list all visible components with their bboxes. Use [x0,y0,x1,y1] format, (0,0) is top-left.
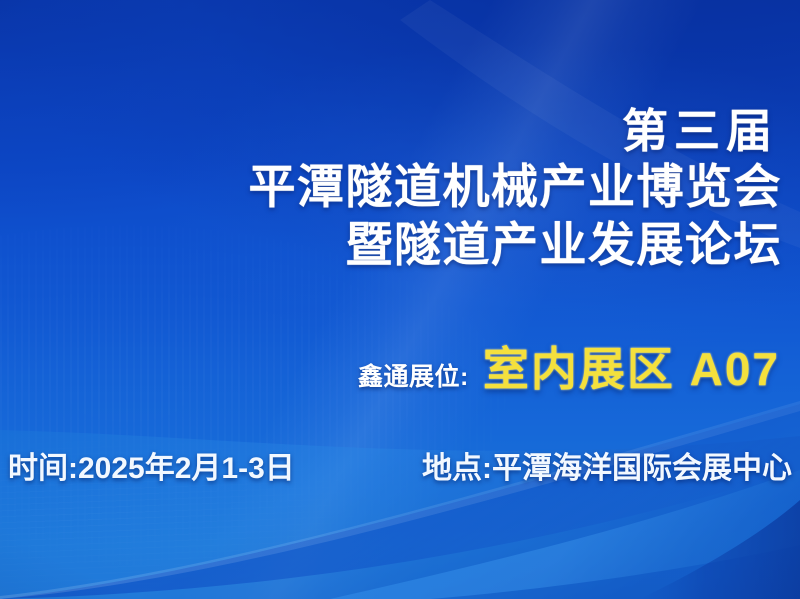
event-poster: 第三届 平潭隧道机械产业博览会 暨隧道产业发展论坛 鑫通展位: 室内展区 A07… [0,0,800,599]
headline-edition: 第三届 [0,104,782,158]
event-venue: 地点:平潭海洋国际会展中心 [422,443,792,487]
headline-main-title: 平潭隧道机械产业博览会 [0,158,782,216]
booth-info: 鑫通展位: 室内展区 A07 [0,343,780,395]
event-meta: 时间:2025年2月1-3日 地点:平潭海洋国际会展中心 [8,443,792,487]
event-headline: 第三届 平潭隧道机械产业博览会 暨隧道产业发展论坛 [0,104,782,274]
event-date: 时间:2025年2月1-3日 [8,443,295,487]
poster-content: 第三届 平潭隧道机械产业博览会 暨隧道产业发展论坛 鑫通展位: 室内展区 A07… [0,0,800,599]
booth-label: 鑫通展位: [358,357,469,393]
headline-subtitle: 暨隧道产业发展论坛 [0,216,782,274]
booth-number: 室内展区 A07 [483,343,780,395]
